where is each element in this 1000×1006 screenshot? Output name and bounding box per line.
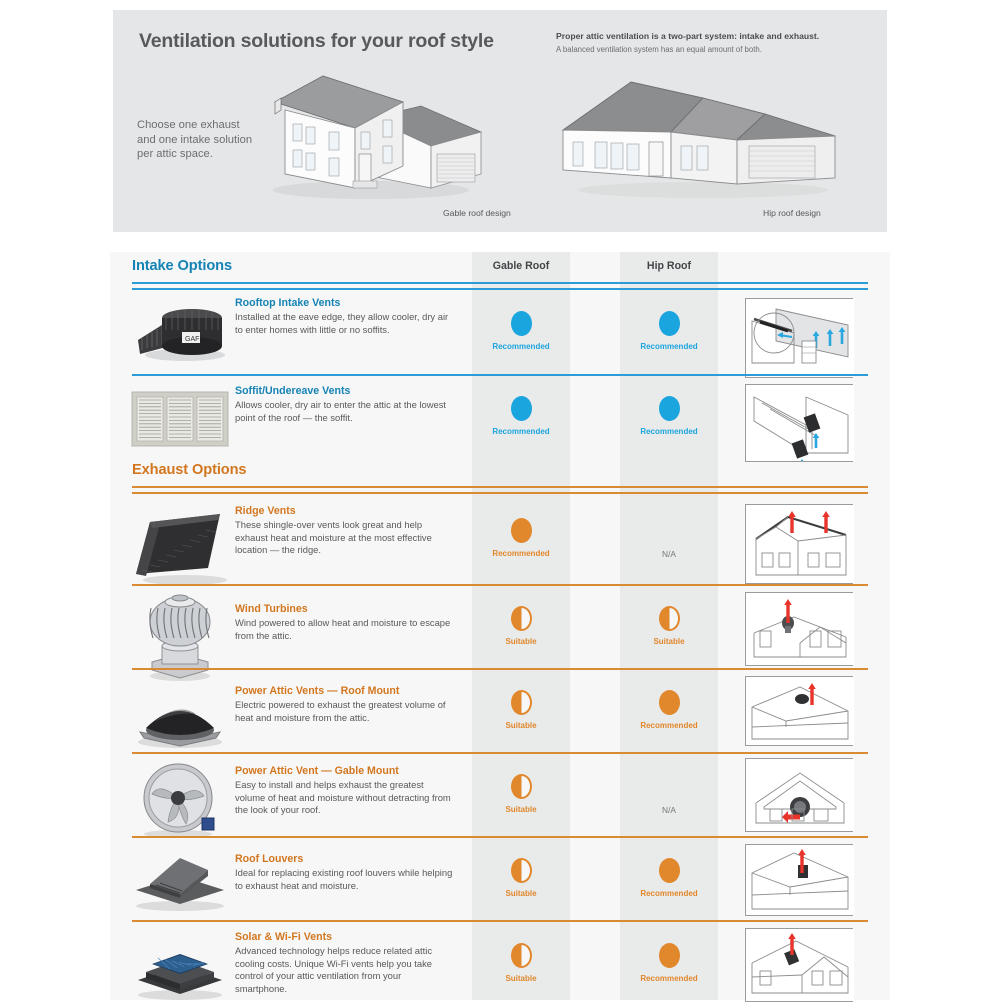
- row-divider: [132, 920, 868, 922]
- product-text-block: Soffit/Undereave Vents Allows cooler, dr…: [235, 384, 455, 424]
- page-title: Ventilation solutions for your roof styl…: [139, 30, 494, 53]
- ventilation-note-primary: Proper attic ventilation is a two-part s…: [556, 30, 866, 42]
- rating-cell-hip: Recommended: [620, 396, 718, 436]
- installation-diagram-gable-mount-exhaust-diagram: [745, 758, 855, 832]
- choose-instruction: Choose one exhaust and one intake soluti…: [137, 118, 257, 162]
- product-text-block: Solar & Wi-Fi Vents Advanced technology …: [235, 930, 455, 995]
- product-text-block: Power Attic Vents — Roof Mount Electric …: [235, 684, 455, 724]
- product-image-power-attic-vent-roof: [130, 688, 230, 753]
- product-description: Ideal for replacing existing roof louver…: [235, 867, 455, 892]
- svg-text:GAF: GAF: [185, 336, 199, 343]
- rating-label: Recommended: [620, 342, 718, 351]
- table-row[interactable]: Wind Turbines Wind powered to allow heat…: [110, 584, 890, 668]
- table-row[interactable]: Ridge Vents These shingle-over vents loo…: [110, 492, 890, 584]
- rating-label: Recommended: [472, 549, 570, 558]
- hip-roof-caption: Hip roof design: [763, 208, 821, 218]
- rating-cell-gable: Suitable: [472, 606, 570, 646]
- rating-cell-hip: Recommended: [620, 858, 718, 898]
- rating-marker-full: [511, 396, 532, 421]
- row-divider: [132, 492, 868, 494]
- rating-label: Recommended: [472, 342, 570, 351]
- rating-cell-hip: Recommended: [620, 943, 718, 983]
- installation-diagram-eave-intake-diagram: [745, 298, 855, 378]
- rating-label: N/A: [620, 805, 718, 815]
- rating-marker-half: [511, 690, 532, 715]
- rating-marker-full: [659, 943, 680, 968]
- rating-label: Suitable: [620, 637, 718, 646]
- row-divider: [132, 836, 868, 838]
- rating-label: Suitable: [472, 637, 570, 646]
- installation-diagram-solar-exhaust-diagram: [745, 928, 855, 1002]
- product-name: Soffit/Undereave Vents: [235, 384, 455, 398]
- row-divider: [132, 584, 868, 586]
- rating-marker-half: [511, 943, 532, 968]
- section-header-exhaust: Exhaust Options: [110, 460, 890, 494]
- installation-diagram-louver-exhaust-diagram: [745, 844, 855, 916]
- rating-marker-full: [511, 311, 532, 336]
- row-divider: [132, 288, 868, 290]
- rating-label: Suitable: [472, 889, 570, 898]
- installation-diagram-ridge-exhaust-diagram: [745, 504, 855, 584]
- product-description: Wind powered to allow heat and moisture …: [235, 617, 455, 642]
- product-name: Power Attic Vent — Gable Mount: [235, 764, 455, 778]
- rating-label: N/A: [620, 549, 718, 559]
- column-header-hip-roof: Hip Roof: [620, 260, 718, 272]
- rating-label: Recommended: [620, 721, 718, 730]
- installation-diagram-soffit-intake-diagram: [745, 384, 855, 462]
- rating-cell-hip: Recommended: [620, 311, 718, 351]
- product-name: Ridge Vents: [235, 504, 455, 518]
- row-divider: [132, 752, 868, 754]
- row-divider: [132, 374, 868, 376]
- rating-cell-hip: Suitable: [620, 606, 718, 646]
- product-description: Installed at the eave edge, they allow c…: [235, 311, 455, 336]
- rating-marker-full: [511, 518, 532, 543]
- rating-cell-gable: Recommended: [472, 396, 570, 436]
- product-description: Easy to install and helps exhaust the gr…: [235, 779, 455, 817]
- row-divider: [132, 668, 868, 670]
- product-name: Roof Louvers: [235, 852, 455, 866]
- rating-cell-gable: Suitable: [472, 858, 570, 898]
- section-divider-intake: [132, 282, 868, 284]
- rating-marker-none: [659, 774, 680, 799]
- rating-label: Recommended: [620, 427, 718, 436]
- rating-marker-full: [659, 311, 680, 336]
- section-title-intake: Intake Options: [132, 258, 232, 274]
- installation-diagram-turbine-exhaust-diagram: [745, 592, 855, 666]
- product-description: Electric powered to exhaust the greatest…: [235, 699, 455, 724]
- rating-cell-hip: N/A: [620, 774, 718, 815]
- section-title-exhaust: Exhaust Options: [132, 462, 246, 478]
- rating-label: Suitable: [472, 805, 570, 814]
- rating-marker-half: [659, 606, 680, 631]
- rating-label: Recommended: [620, 974, 718, 983]
- product-name: Rooftop Intake Vents: [235, 296, 455, 310]
- rating-cell-gable: Suitable: [472, 943, 570, 983]
- product-image-ridge-vent-strip: [130, 508, 230, 591]
- ventilation-note: Proper attic ventilation is a two-part s…: [556, 30, 866, 55]
- hip-house-illustration: [553, 58, 853, 203]
- product-description: These shingle-over vents look great and …: [235, 519, 455, 557]
- product-image-rolled-ridge-intake-vent: GAF: [130, 300, 230, 367]
- product-description: Advanced technology helps reduce related…: [235, 945, 455, 995]
- table-row[interactable]: GAF Rooftop Intake Vents Installed at th…: [110, 288, 890, 374]
- rating-marker-half: [511, 858, 532, 883]
- product-text-block: Power Attic Vent — Gable Mount Easy to i…: [235, 764, 455, 817]
- gable-house-illustration: [253, 58, 483, 203]
- rating-cell-gable: Recommended: [472, 311, 570, 351]
- rating-cell-gable: Suitable: [472, 774, 570, 814]
- product-text-block: Rooftop Intake Vents Installed at the ea…: [235, 296, 455, 336]
- product-text-block: Ridge Vents These shingle-over vents loo…: [235, 504, 455, 557]
- rating-marker-full: [659, 690, 680, 715]
- ventilation-note-secondary: A balanced ventilation system has an equ…: [556, 44, 866, 55]
- rating-label: Suitable: [472, 721, 570, 730]
- product-text-block: Roof Louvers Ideal for replacing existin…: [235, 852, 455, 892]
- rating-cell-hip: N/A: [620, 518, 718, 559]
- product-description: Allows cooler, dry air to enter the atti…: [235, 399, 455, 424]
- product-name: Wind Turbines: [235, 602, 455, 616]
- rating-marker-half: [511, 606, 532, 631]
- product-image-power-attic-vent-gable: [130, 760, 222, 843]
- section-divider-exhaust: [132, 486, 868, 488]
- rating-cell-hip: Recommended: [620, 690, 718, 730]
- product-name: Solar & Wi-Fi Vents: [235, 930, 455, 944]
- table-row[interactable]: Soffit/Undereave Vents Allows cooler, dr…: [110, 374, 890, 458]
- gable-roof-caption: Gable roof design: [443, 208, 511, 218]
- table-row[interactable]: Roof Louvers Ideal for replacing existin…: [110, 836, 890, 920]
- table-row[interactable]: Power Attic Vent — Gable Mount Easy to i…: [110, 752, 890, 836]
- rating-label: Recommended: [472, 427, 570, 436]
- product-image-roof-louver: [130, 850, 230, 917]
- ventilation-options-table: Intake Options Gable RoofHip Roof GAF Ro…: [110, 252, 890, 1000]
- product-text-block: Wind Turbines Wind powered to allow heat…: [235, 602, 455, 642]
- header-banner: Ventilation solutions for your roof styl…: [113, 10, 887, 232]
- rating-label: Recommended: [620, 889, 718, 898]
- product-image-louvered-soffit-panel: [130, 390, 226, 453]
- product-image-solar-wifi-vent: [130, 938, 230, 1005]
- rating-marker-none: [659, 518, 680, 543]
- table-row[interactable]: Power Attic Vents — Roof Mount Electric …: [110, 668, 890, 752]
- rating-cell-gable: Suitable: [472, 690, 570, 730]
- column-header-gable-roof: Gable Roof: [472, 260, 570, 272]
- rating-marker-half: [511, 774, 532, 799]
- product-name: Power Attic Vents — Roof Mount: [235, 684, 455, 698]
- rating-marker-full: [659, 858, 680, 883]
- installation-diagram-roof-mount-exhaust-diagram: [745, 676, 855, 746]
- rating-label: Suitable: [472, 974, 570, 983]
- table-row[interactable]: Solar & Wi-Fi Vents Advanced technology …: [110, 920, 890, 1006]
- rating-cell-gable: Recommended: [472, 518, 570, 558]
- rating-marker-full: [659, 396, 680, 421]
